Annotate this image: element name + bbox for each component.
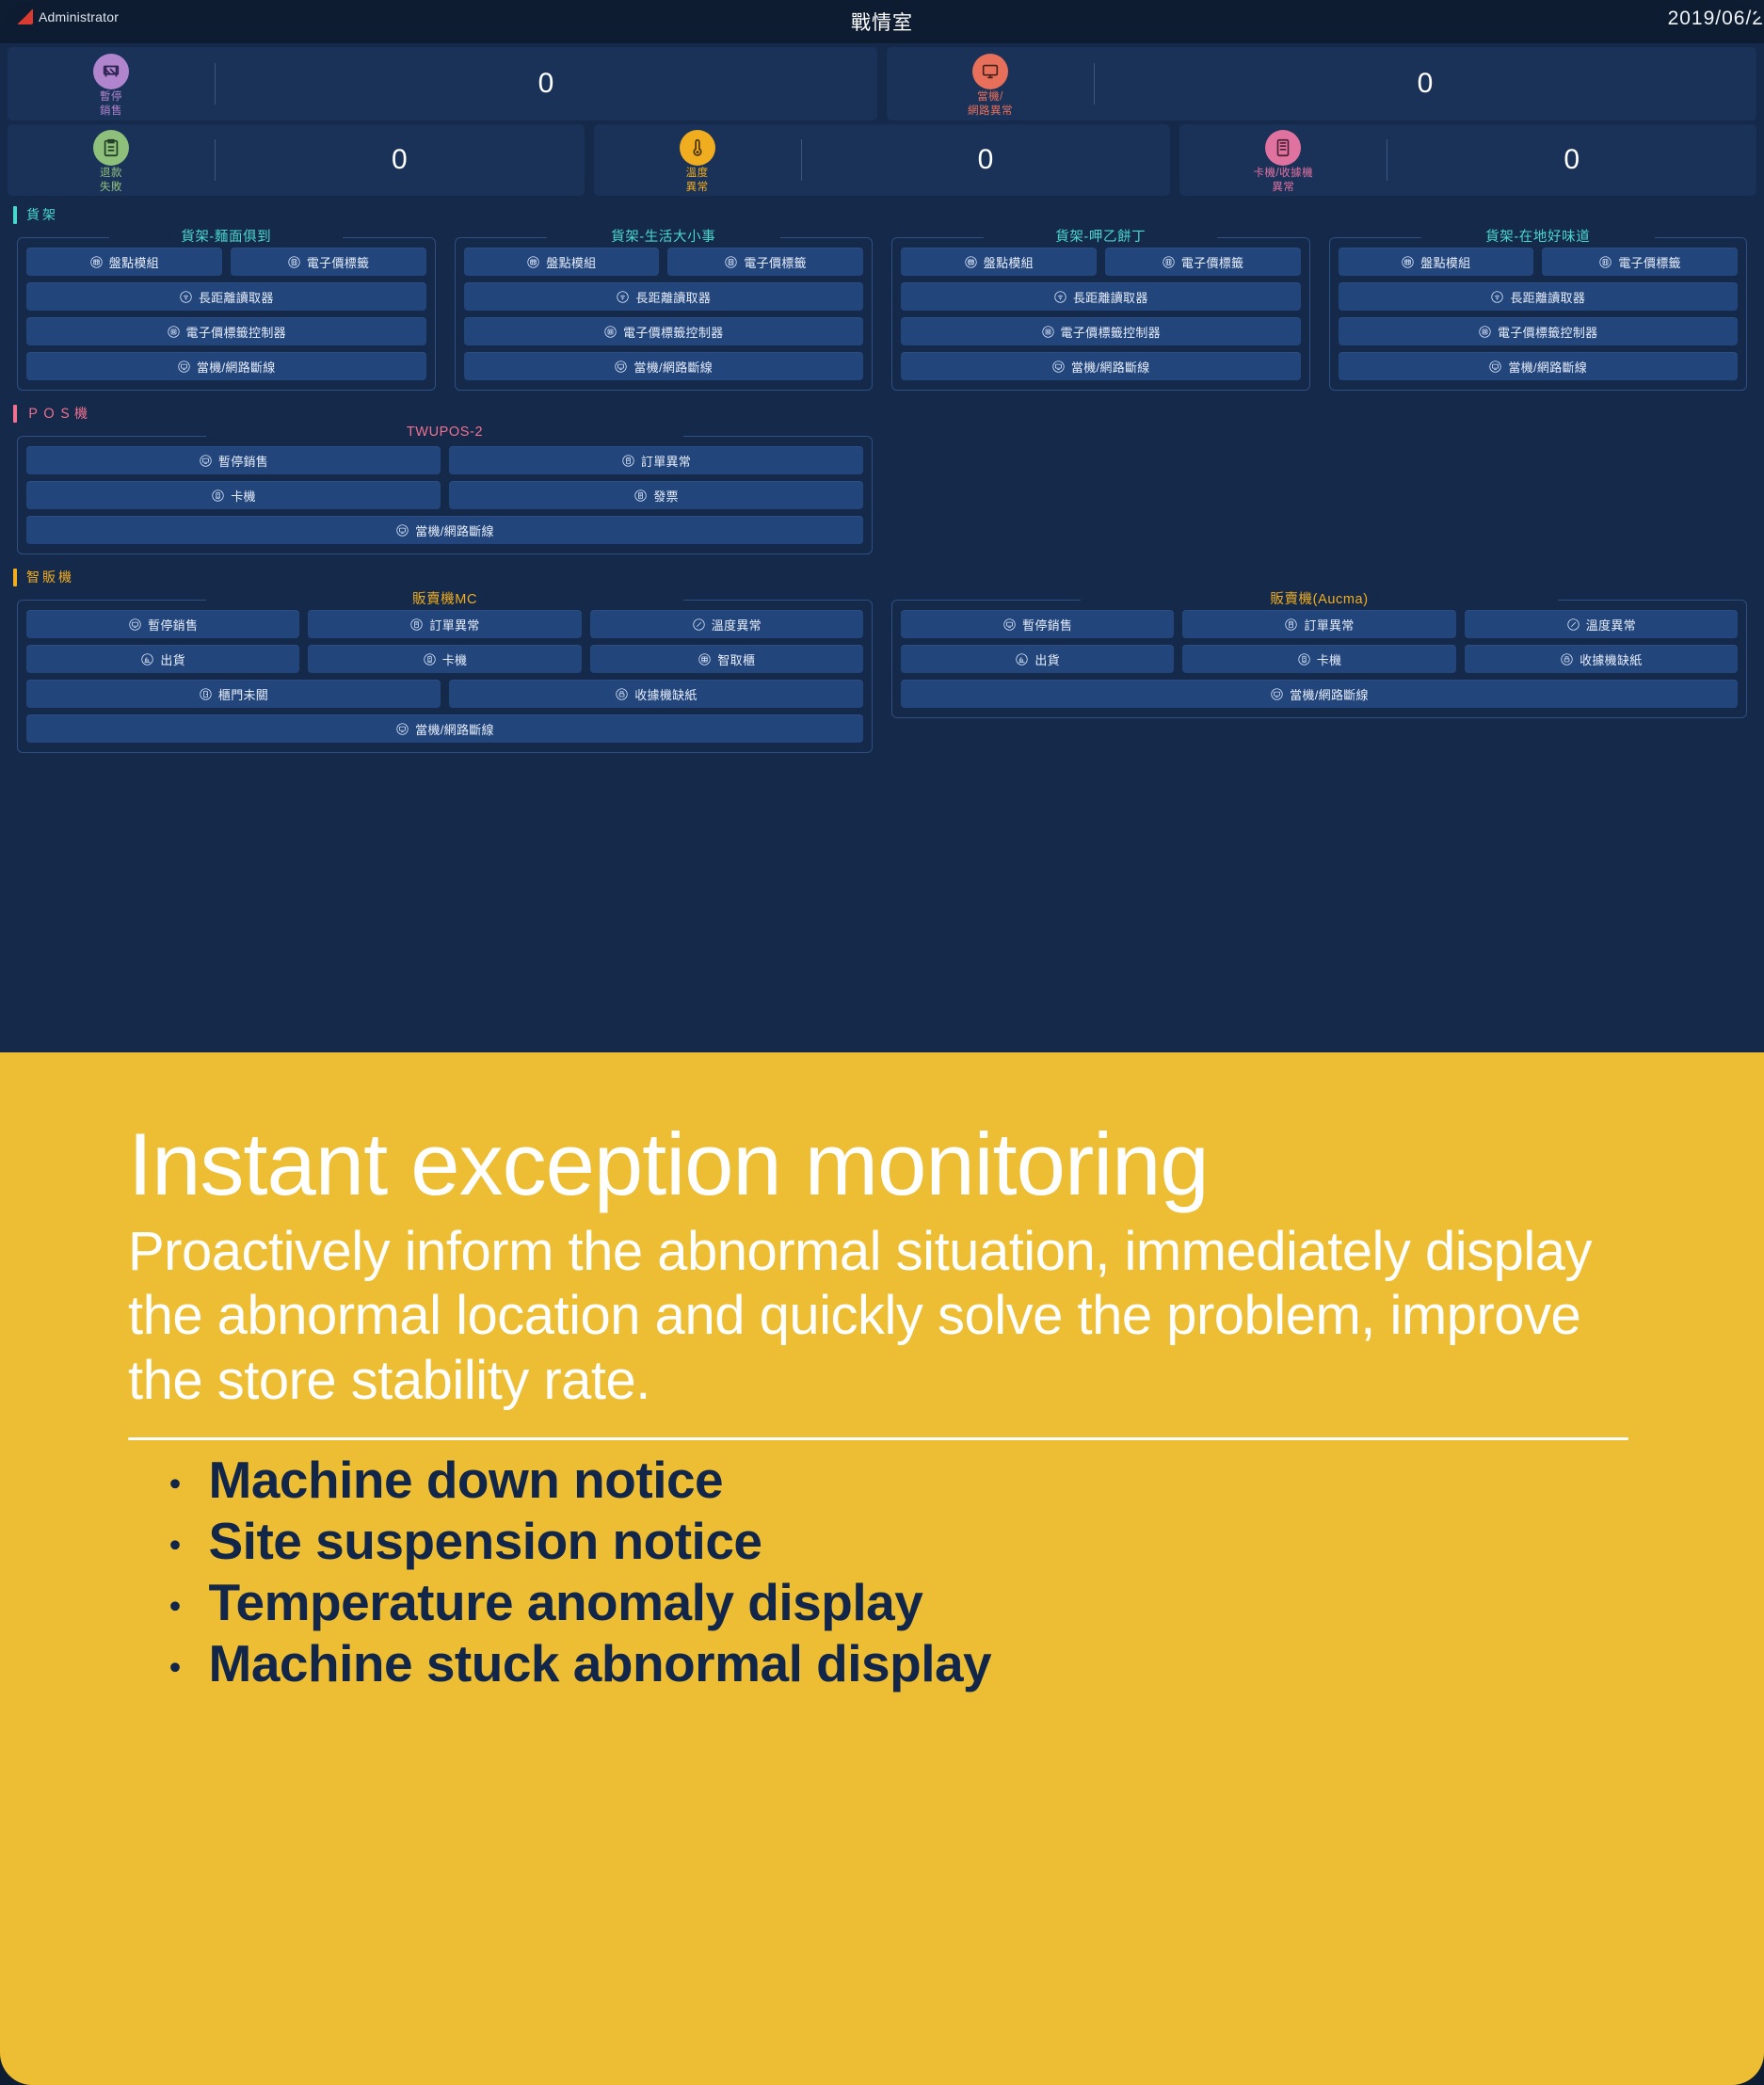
monitor-icon — [1051, 360, 1066, 374]
kpi-label-line2: 銷售 — [100, 105, 122, 118]
panel-group: 販賣機MC暫停銷售訂單異常溫度異常出貨卡機智取櫃櫃門未關收據機缺紙當機/網路斷線… — [13, 588, 1751, 753]
tile-row: 長距離讀取器 — [26, 282, 426, 311]
panel-title: 貨架-呷乙餅丁 — [1046, 226, 1155, 246]
kpi-row-1: 暫停 銷售 0 當機/ 網路異常 — [0, 43, 1764, 120]
printer-icon — [1265, 130, 1301, 166]
panel-group: 貨架-麵面俱到盤點模組電子價標籤長距離讀取器電子價標籤控制器當機/網路斷線貨架-… — [13, 226, 1751, 391]
status-tile[interactable]: 當機/網路斷線 — [26, 714, 863, 743]
status-tile-label: 收據機缺紙 — [634, 685, 698, 703]
price-tag-icon — [1162, 255, 1176, 269]
status-tile-label: 盤點模組 — [109, 253, 159, 271]
bullet-dot-icon: ・ — [156, 1589, 194, 1627]
section-accent-bar — [13, 405, 17, 423]
panel-body: 暫停銷售訂單異常溫度異常出貨卡機收據機缺紙當機/網路斷線 — [891, 600, 1747, 718]
panel-title: 貨架-在地好味道 — [1476, 226, 1599, 246]
kpi-label-line2: 失敗 — [100, 182, 122, 194]
paper-out-icon — [615, 687, 629, 701]
section-2: ＰＯＳ機TWUPOS-2暫停銷售訂單異常卡機發票當機/網路斷線 — [0, 394, 1764, 558]
thermometer-icon — [1566, 617, 1580, 632]
overlay-title: Instant exception monitoring — [128, 1120, 1674, 1209]
status-tile[interactable]: 長距離讀取器 — [901, 282, 1301, 311]
overlay-bullet-label: Site suspension notice — [209, 1511, 762, 1572]
status-tile-label: 當機/網路斷線 — [1071, 358, 1150, 376]
status-tile[interactable]: 電子價標籤 — [231, 248, 426, 276]
status-tile[interactable]: 發票 — [449, 481, 863, 509]
section-header: 智販機 — [13, 568, 1751, 586]
sections-host: 貨架貨架-麵面俱到盤點模組電子價標籤長距離讀取器電子價標籤控制器當機/網路斷線貨… — [0, 196, 1764, 757]
kpi-value: 0 — [1387, 144, 1756, 176]
status-tile-label: 當機/網路斷線 — [1290, 685, 1369, 703]
kpi-value: 0 — [802, 144, 1171, 176]
kpi-row-2: 退款 失敗 0 溫度 異常 — [0, 120, 1764, 196]
status-tile-label: 電子價標籤 — [744, 253, 807, 271]
status-tile[interactable]: 收據機缺紙 — [449, 680, 863, 708]
overlay-bullet-item: ・Machine stuck abnormal display — [156, 1633, 1674, 1694]
status-tile[interactable]: 電子價標籤 — [1542, 248, 1738, 276]
door-open-icon — [199, 687, 213, 701]
tile-row: 盤點模組電子價標籤 — [1339, 248, 1739, 276]
status-tile-label: 卡機 — [442, 650, 468, 668]
dispense-icon — [140, 652, 154, 666]
controller-icon — [167, 325, 181, 339]
status-tile-label: 盤點模組 — [984, 253, 1034, 271]
status-tile[interactable]: 當機/網路斷線 — [1339, 352, 1739, 380]
status-tile-label: 盤點模組 — [546, 253, 596, 271]
section-3: 智販機販賣機MC暫停銷售訂單異常溫度異常出貨卡機智取櫃櫃門未關收據機缺紙當機/網… — [0, 558, 1764, 757]
monitor-icon — [395, 523, 409, 537]
card-reader-icon — [211, 489, 225, 503]
status-tile[interactable]: 當機/網路斷線 — [26, 352, 426, 380]
bullet-dot-icon: ・ — [156, 1650, 194, 1688]
monitor-icon — [199, 454, 213, 468]
controller-icon — [603, 325, 617, 339]
status-tile[interactable]: 盤點模組 — [464, 248, 660, 276]
kpi-label-line2: 異常 — [686, 182, 709, 194]
status-tile-label: 暫停銷售 — [218, 452, 268, 470]
status-tile-label: 盤點模組 — [1420, 253, 1470, 271]
status-tile[interactable]: 長距離讀取器 — [1339, 282, 1739, 311]
kpi-label-line1: 退款 — [100, 168, 122, 180]
kpi-card-crash-network[interactable]: 當機/ 網路異常 0 — [887, 47, 1756, 120]
date-label: 2019/06/2 — [1668, 8, 1764, 30]
status-tile-label: 電子價標籤控制器 — [623, 323, 723, 341]
status-tile[interactable]: 出貨 — [901, 645, 1174, 673]
status-tile-label: 出貨 — [160, 650, 185, 668]
section-title: 貨架 — [26, 205, 58, 224]
kpi-card-temperature-anomaly[interactable]: 溫度 異常 0 — [594, 124, 1171, 196]
panel-1: 販賣機MC暫停銷售訂單異常溫度異常出貨卡機智取櫃櫃門未關收據機缺紙當機/網路斷線 — [17, 588, 873, 753]
locker-icon — [698, 652, 712, 666]
monitor-icon — [395, 722, 409, 736]
price-tag-icon — [287, 255, 301, 269]
feature-overlay-panel: Instant exception monitoring Proactively… — [0, 1052, 1764, 2085]
status-tile[interactable]: 訂單異常 — [308, 610, 581, 638]
tile-row: 當機/網路斷線 — [464, 352, 864, 380]
status-tile-label: 電子價標籤 — [307, 253, 370, 271]
status-tile-label: 訂單異常 — [429, 616, 479, 634]
panel-4: 貨架-在地好味道盤點模組電子價標籤長距離讀取器電子價標籤控制器當機/網路斷線 — [1329, 226, 1748, 391]
kpi-icon-and-label: 卡機/收據機 異常 — [1179, 126, 1387, 194]
status-tile[interactable]: 電子價標籤控制器 — [901, 317, 1301, 345]
status-tile-label: 當機/網路斷線 — [1508, 358, 1587, 376]
status-tile-label: 出貨 — [1034, 650, 1060, 668]
tile-row: 盤點模組電子價標籤 — [901, 248, 1301, 276]
tile-row: 長距離讀取器 — [464, 282, 864, 311]
inventory-icon — [526, 255, 540, 269]
status-tile[interactable]: 電子價標籤 — [1105, 248, 1301, 276]
status-tile-label: 電子價標籤 — [1618, 253, 1681, 271]
status-tile-label: 當機/網路斷線 — [633, 358, 713, 376]
panel-title: 販賣機(Aucma) — [1260, 588, 1377, 608]
status-tile-label: 當機/網路斷線 — [415, 521, 494, 539]
overlay-subtitle: Proactively inform the abnormal situatio… — [128, 1220, 1653, 1413]
tile-row: 電子價標籤控制器 — [26, 317, 426, 345]
dispense-icon — [1015, 652, 1029, 666]
kpi-label-line1: 當機/ — [977, 91, 1003, 104]
status-tile-label: 智取櫃 — [717, 650, 755, 668]
top-bar: Administrator 戰情室 2019/06/2 — [0, 0, 1764, 43]
panel-title: 貨架-麵面俱到 — [171, 226, 281, 246]
status-tile[interactable]: 長距離讀取器 — [26, 282, 426, 311]
status-tile[interactable]: 盤點模組 — [1339, 248, 1534, 276]
inventory-icon — [964, 255, 978, 269]
status-tile[interactable]: 智取櫃 — [590, 645, 863, 673]
inventory-icon — [1401, 255, 1415, 269]
kpi-label-line2: 異常 — [1272, 182, 1294, 194]
section-1: 貨架貨架-麵面俱到盤點模組電子價標籤長距離讀取器電子價標籤控制器當機/網路斷線貨… — [0, 196, 1764, 394]
status-tile[interactable]: 訂單異常 — [1182, 610, 1455, 638]
kpi-label-line1: 卡機/收據機 — [1253, 168, 1313, 180]
panel-title: TWUPOS-2 — [397, 425, 492, 440]
status-tile-label: 長距離讀取器 — [1073, 288, 1148, 306]
kpi-card-card-receipt-anomaly[interactable]: 卡機/收據機 異常 0 — [1179, 124, 1756, 196]
panel-title: 販賣機MC — [403, 588, 487, 608]
panel-3: 貨架-呷乙餅丁盤點模組電子價標籤長距離讀取器電子價標籤控制器當機/網路斷線 — [891, 226, 1310, 391]
kpi-card-suspend-sales[interactable]: 暫停 銷售 0 — [8, 47, 877, 120]
status-tile-label: 訂單異常 — [641, 452, 691, 470]
status-tile-label: 電子價標籤控制器 — [186, 323, 286, 341]
status-tile-label: 當機/網路斷線 — [415, 720, 494, 738]
status-tile[interactable]: 卡機 — [26, 481, 441, 509]
kpi-card-refund-failure[interactable]: 退款 失敗 0 — [8, 124, 585, 196]
tile-row: 長距離讀取器 — [901, 282, 1301, 311]
overlay-bullet-item: ・Site suspension notice — [156, 1511, 1674, 1572]
order-icon — [621, 454, 635, 468]
status-tile[interactable]: 暫停銷售 — [26, 446, 441, 474]
overlay-bullet-label: Machine down notice — [209, 1450, 724, 1511]
status-tile-label: 卡機 — [1317, 650, 1342, 668]
card-reader-icon — [1297, 652, 1311, 666]
monitor-icon — [972, 54, 1008, 89]
kpi-icon-and-label: 退款 失敗 — [8, 126, 215, 194]
panel-title: 貨架-生活大小事 — [601, 226, 725, 246]
order-icon — [1284, 617, 1298, 632]
status-tile[interactable]: 當機/網路斷線 — [26, 516, 863, 544]
panel-1: TWUPOS-2暫停銷售訂單異常卡機發票當機/網路斷線 — [17, 425, 873, 554]
status-tile-label: 暫停銷售 — [148, 616, 198, 634]
tile-row: 當機/網路斷線 — [26, 714, 863, 743]
status-tile[interactable]: 當機/網路斷線 — [901, 680, 1738, 708]
kpi-icon-and-label: 溫度 異常 — [594, 126, 801, 194]
section-accent-bar — [13, 206, 17, 224]
tile-row: 電子價標籤控制器 — [901, 317, 1301, 345]
monitor-icon — [1270, 687, 1284, 701]
price-tag-icon — [724, 255, 738, 269]
status-tile-label: 溫度異常 — [1586, 616, 1636, 634]
overlay-bullet-label: Machine stuck abnormal display — [209, 1633, 992, 1694]
rfid-reader-icon — [179, 290, 193, 304]
controller-icon — [1041, 325, 1055, 339]
section-accent-bar — [13, 569, 17, 586]
tile-row: 電子價標籤控制器 — [1339, 317, 1739, 345]
status-tile[interactable]: 電子價標籤控制器 — [26, 317, 426, 345]
status-tile-label: 當機/網路斷線 — [197, 358, 276, 376]
clipboard-icon — [93, 130, 129, 166]
monitor-icon — [1002, 617, 1017, 632]
tile-row: 出貨卡機收據機缺紙 — [901, 645, 1738, 673]
tile-row: 暫停銷售訂單異常 — [26, 446, 863, 474]
status-tile-label: 發票 — [653, 487, 679, 505]
status-tile[interactable]: 暫停銷售 — [901, 610, 1174, 638]
status-tile-label: 卡機 — [231, 487, 256, 505]
bullet-dot-icon: ・ — [156, 1528, 194, 1565]
panel-body: 盤點模組電子價標籤長距離讀取器電子價標籤控制器當機/網路斷線 — [891, 237, 1310, 391]
status-tile[interactable]: 訂單異常 — [449, 446, 863, 474]
status-tile-label: 電子價標籤控制器 — [1061, 323, 1161, 341]
tile-row: 當機/網路斷線 — [1339, 352, 1739, 380]
status-tile[interactable]: 暫停銷售 — [26, 610, 299, 638]
tile-row: 電子價標籤控制器 — [464, 317, 864, 345]
status-tile[interactable]: 當機/網路斷線 — [901, 352, 1301, 380]
status-tile[interactable]: 電子價標籤控制器 — [1339, 317, 1739, 345]
overlay-bullet-item: ・Temperature anomaly display — [156, 1572, 1674, 1633]
bullet-dot-icon: ・ — [156, 1467, 194, 1504]
overlay-bullet-label: Temperature anomaly display — [209, 1572, 923, 1633]
status-tile-label: 訂單異常 — [1304, 616, 1354, 634]
section-title: 智販機 — [26, 568, 74, 586]
status-tile[interactable]: 卡機 — [1182, 645, 1455, 673]
price-tag-icon — [1598, 255, 1612, 269]
panel-2: 販賣機(Aucma)暫停銷售訂單異常溫度異常出貨卡機收據機缺紙當機/網路斷線 — [891, 588, 1747, 753]
rfid-reader-icon — [1053, 290, 1067, 304]
tile-row: 盤點模組電子價標籤 — [464, 248, 864, 276]
kpi-value: 0 — [216, 68, 877, 100]
status-tile-label: 櫃門未關 — [218, 685, 268, 703]
kpi-icon-and-label: 當機/ 網路異常 — [887, 50, 1094, 118]
card-reader-icon — [423, 652, 437, 666]
panel-body: 盤點模組電子價標籤長距離讀取器電子價標籤控制器當機/網路斷線 — [455, 237, 874, 391]
status-tile[interactable]: 電子價標籤 — [667, 248, 863, 276]
page-title: 戰情室 — [0, 8, 1764, 36]
section-header: ＰＯＳ機 — [13, 404, 1751, 423]
screenshot-root: Administrator 戰情室 2019/06/2 暫停 銷售 — [0, 0, 1764, 2085]
section-header: 貨架 — [13, 205, 1751, 224]
overlay-bullet-item: ・Machine down notice — [156, 1450, 1674, 1511]
panel-body: 盤點模組電子價標籤長距離讀取器電子價標籤控制器當機/網路斷線 — [1329, 237, 1748, 391]
tile-row: 暫停銷售訂單異常溫度異常 — [901, 610, 1738, 638]
status-tile[interactable]: 長距離讀取器 — [464, 282, 864, 311]
status-tile[interactable]: 盤點模組 — [26, 248, 222, 276]
invoice-icon — [633, 489, 648, 503]
kpi-value: 0 — [1095, 68, 1756, 100]
panel-2: 貨架-生活大小事盤點模組電子價標籤長距離讀取器電子價標籤控制器當機/網路斷線 — [455, 226, 874, 391]
rfid-reader-icon — [1490, 290, 1504, 304]
status-tile[interactable]: 電子價標籤控制器 — [464, 317, 864, 345]
status-tile-label: 電子價標籤 — [1181, 253, 1244, 271]
status-tile[interactable]: 出貨 — [26, 645, 299, 673]
tile-row: 當機/網路斷線 — [26, 352, 426, 380]
tile-row: 當機/網路斷線 — [26, 516, 863, 544]
status-tile-label: 溫度異常 — [712, 616, 762, 634]
tile-row: 當機/網路斷線 — [901, 352, 1301, 380]
status-tile[interactable]: 溫度異常 — [1465, 610, 1738, 638]
status-tile[interactable]: 盤點模組 — [901, 248, 1097, 276]
tile-row: 櫃門未關收據機缺紙 — [26, 680, 863, 708]
tile-row: 長距離讀取器 — [1339, 282, 1739, 311]
controller-icon — [1478, 325, 1492, 339]
status-tile-label: 暫停銷售 — [1022, 616, 1072, 634]
monitor-icon — [128, 617, 142, 632]
panel-group: TWUPOS-2暫停銷售訂單異常卡機發票當機/網路斷線 — [13, 425, 1751, 554]
tile-row: 盤點模組電子價標籤 — [26, 248, 426, 276]
status-tile[interactable]: 櫃門未關 — [26, 680, 441, 708]
status-tile[interactable]: 收據機缺紙 — [1465, 645, 1738, 673]
kpi-label-line1: 溫度 — [686, 168, 709, 180]
kpi-icon-and-label: 暫停 銷售 — [8, 50, 215, 118]
section-title: ＰＯＳ機 — [26, 404, 90, 423]
kpi-label-line1: 暫停 — [100, 91, 122, 104]
monitor-icon — [614, 360, 628, 374]
status-tile-label: 長距離讀取器 — [635, 288, 711, 306]
rfid-reader-icon — [616, 290, 630, 304]
paper-out-icon — [1560, 652, 1574, 666]
inventory-icon — [89, 255, 104, 269]
status-tile[interactable]: 卡機 — [308, 645, 581, 673]
status-tile-label: 長距離讀取器 — [199, 288, 274, 306]
kpi-value: 0 — [216, 144, 585, 176]
kpi-label-line2: 網路異常 — [968, 105, 1013, 118]
overlay-bullet-list: ・Machine down notice・Site suspension not… — [128, 1450, 1674, 1694]
kpi-strip: 暫停 銷售 0 當機/ 網路異常 — [0, 43, 1764, 196]
barrier-icon — [93, 54, 129, 89]
status-tile[interactable]: 當機/網路斷線 — [464, 352, 864, 380]
panel-body: 盤點模組電子價標籤長距離讀取器電子價標籤控制器當機/網路斷線 — [17, 237, 436, 391]
overlay-divider — [128, 1437, 1628, 1440]
panel-body: 暫停銷售訂單異常卡機發票當機/網路斷線 — [17, 436, 873, 554]
status-tile-label: 長距離讀取器 — [1510, 288, 1585, 306]
thermometer-icon — [692, 617, 706, 632]
war-room-dashboard: Administrator 戰情室 2019/06/2 暫停 銷售 — [0, 0, 1764, 1064]
panel-1: 貨架-麵面俱到盤點模組電子價標籤長距離讀取器電子價標籤控制器當機/網路斷線 — [17, 226, 436, 391]
tile-row: 出貨卡機智取櫃 — [26, 645, 863, 673]
status-tile-label: 收據機缺紙 — [1580, 650, 1643, 668]
monitor-icon — [1488, 360, 1502, 374]
panel-body: 暫停銷售訂單異常溫度異常出貨卡機智取櫃櫃門未關收據機缺紙當機/網路斷線 — [17, 600, 873, 753]
monitor-icon — [177, 360, 191, 374]
tile-row: 暫停銷售訂單異常溫度異常 — [26, 610, 863, 638]
tile-row: 當機/網路斷線 — [901, 680, 1738, 708]
thermometer-icon — [680, 130, 715, 166]
status-tile[interactable]: 溫度異常 — [590, 610, 863, 638]
tile-row: 卡機發票 — [26, 481, 863, 509]
order-icon — [409, 617, 424, 632]
status-tile-label: 電子價標籤控制器 — [1498, 323, 1597, 341]
